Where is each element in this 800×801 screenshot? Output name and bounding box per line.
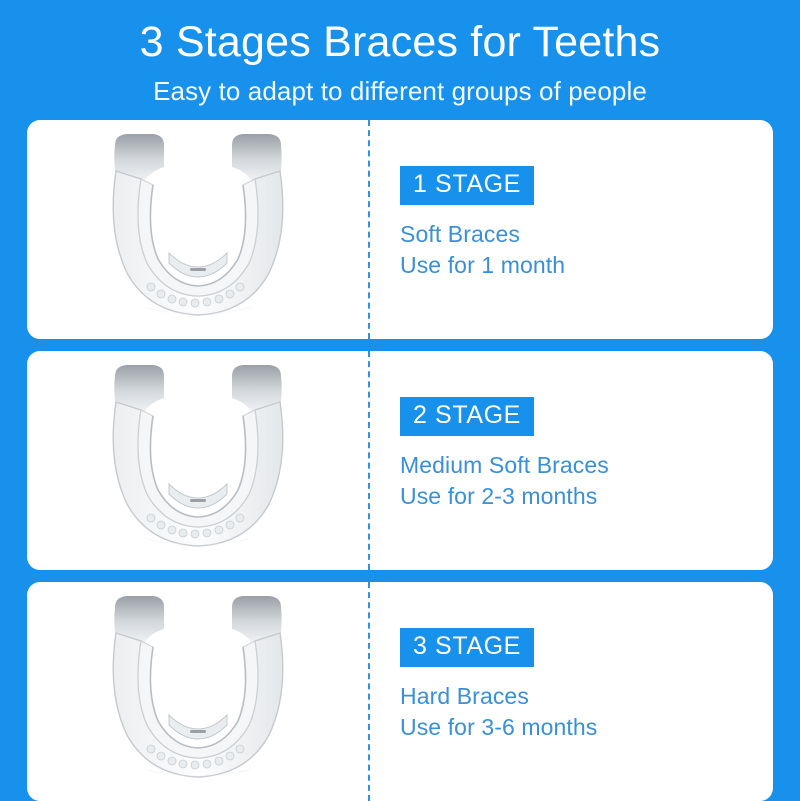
page-subtitle: Easy to adapt to different groups of peo… <box>0 70 800 108</box>
page-header: 3 Stages Braces for Teeths Easy to adapt… <box>0 0 800 118</box>
stage-card[interactable]: 1 STAGE Soft Braces Use for 1 month <box>27 120 773 339</box>
dental-mouthguard-tray-icon <box>83 358 313 563</box>
page-title: 3 Stages Braces for Teeths <box>0 0 800 70</box>
stage-description-line: Soft Braces <box>400 219 773 250</box>
product-image-pane <box>27 120 368 339</box>
product-image-pane <box>27 351 368 570</box>
stage-description: Medium Soft Braces Use for 2-3 months <box>400 436 773 512</box>
stage-text-pane: 2 STAGE Medium Soft Braces Use for 2-3 m… <box>368 351 773 570</box>
stage-card-list: 1 STAGE Soft Braces Use for 1 month <box>27 120 773 801</box>
stage-badge: 2 STAGE <box>400 397 534 436</box>
stage-card[interactable]: 3 STAGE Hard Braces Use for 3-6 months <box>27 582 773 801</box>
stage-badge: 1 STAGE <box>400 166 534 205</box>
stage-description: Hard Braces Use for 3-6 months <box>400 667 773 743</box>
dental-mouthguard-tray-icon <box>83 589 313 794</box>
stage-duration-line: Use for 1 month <box>400 250 773 281</box>
stage-card[interactable]: 2 STAGE Medium Soft Braces Use for 2-3 m… <box>27 351 773 570</box>
stage-description-line: Medium Soft Braces <box>400 450 773 481</box>
stage-badge: 3 STAGE <box>400 628 534 667</box>
stage-duration-line: Use for 3-6 months <box>400 712 773 743</box>
stage-description: Soft Braces Use for 1 month <box>400 205 773 281</box>
product-image-pane <box>27 582 368 801</box>
infographic-page: 3 Stages Braces for Teeths Easy to adapt… <box>0 0 800 800</box>
stage-text-pane: 3 STAGE Hard Braces Use for 3-6 months <box>368 582 773 801</box>
dental-mouthguard-tray-icon <box>83 127 313 332</box>
stage-duration-line: Use for 2-3 months <box>400 481 773 512</box>
stage-text-pane: 1 STAGE Soft Braces Use for 1 month <box>368 120 773 339</box>
stage-description-line: Hard Braces <box>400 681 773 712</box>
